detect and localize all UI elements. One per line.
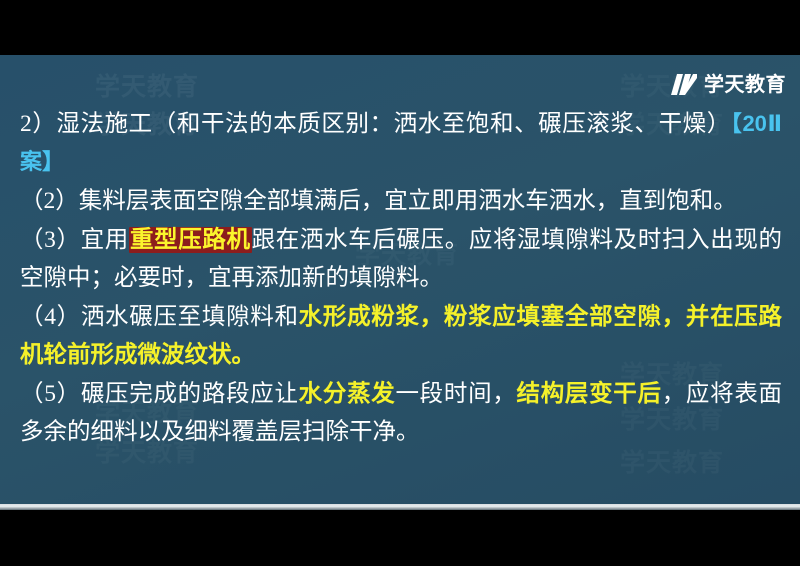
brand-logo-text: 学天教育 xyxy=(704,75,786,95)
paragraph-p2: （2）集料层表面空隙全部填满后，宜立即用洒水车洒水，直到饱和。 xyxy=(0,182,800,220)
paragraph-p3: （3）宜用重型压路机跟在洒水车后碾压。应将湿填隙料及时扫入出现的空隙中；必要时，… xyxy=(0,221,800,297)
text-run-p5-1-emphasis: 水分蒸发 xyxy=(299,381,396,407)
slash-stripes-icon xyxy=(671,74,697,95)
letterbox-top xyxy=(0,0,800,55)
text-run-p3-1-emphasis: 重型压路机 xyxy=(129,227,252,253)
text-run-p4-0: （4）洒水碾压至填隙料和 xyxy=(20,304,299,330)
brand-logo: 学天教育 xyxy=(671,74,786,95)
slide-text-body: 2）湿法施工（和干法的本质区别：洒水至饱和、碾压滚浆、干燥）【20Ⅱ案】（2）集… xyxy=(0,105,800,451)
text-run-p3-0: （3）宜用 xyxy=(20,227,129,253)
player-progress-hairline[interactable] xyxy=(0,504,800,510)
watermark-0: 学天教育 xyxy=(95,67,199,103)
letterbox-bottom xyxy=(0,510,800,566)
text-run-p5-3-emphasis: 结构层变干后 xyxy=(517,381,662,407)
text-run-p2-0: （2）集料层表面空隙全部填满后，宜立即用洒水车洒水，直到饱和。 xyxy=(20,188,737,214)
video-player-frame: 学天教育学天教育学天教育学天教育学天教育学天教育学天教育学天教育学天教育学天教育… xyxy=(0,0,800,566)
paragraph-p4: （4）洒水碾压至填隙料和水形成粉浆，粉浆应填塞全部空隙，并在压路机轮前形成微波纹… xyxy=(0,298,800,374)
paragraph-p1: 2）湿法施工（和干法的本质区别：洒水至饱和、碾压滚浆、干燥）【20Ⅱ案】 xyxy=(0,105,800,181)
text-run-p5-0: （5）碾压完成的路段应让 xyxy=(20,381,299,407)
text-run-p1-0: 2）湿法施工（和干法的本质区别：洒水至饱和、碾压滚浆、干燥） xyxy=(20,111,731,137)
slide-canvas: 学天教育学天教育学天教育学天教育学天教育学天教育学天教育学天教育学天教育学天教育… xyxy=(0,55,800,505)
paragraph-p5: （5）碾压完成的路段应让水分蒸发一段时间，结构层变干后，应将表面多余的细料以及细… xyxy=(0,375,800,451)
text-run-p5-2: 一段时间， xyxy=(395,381,516,407)
